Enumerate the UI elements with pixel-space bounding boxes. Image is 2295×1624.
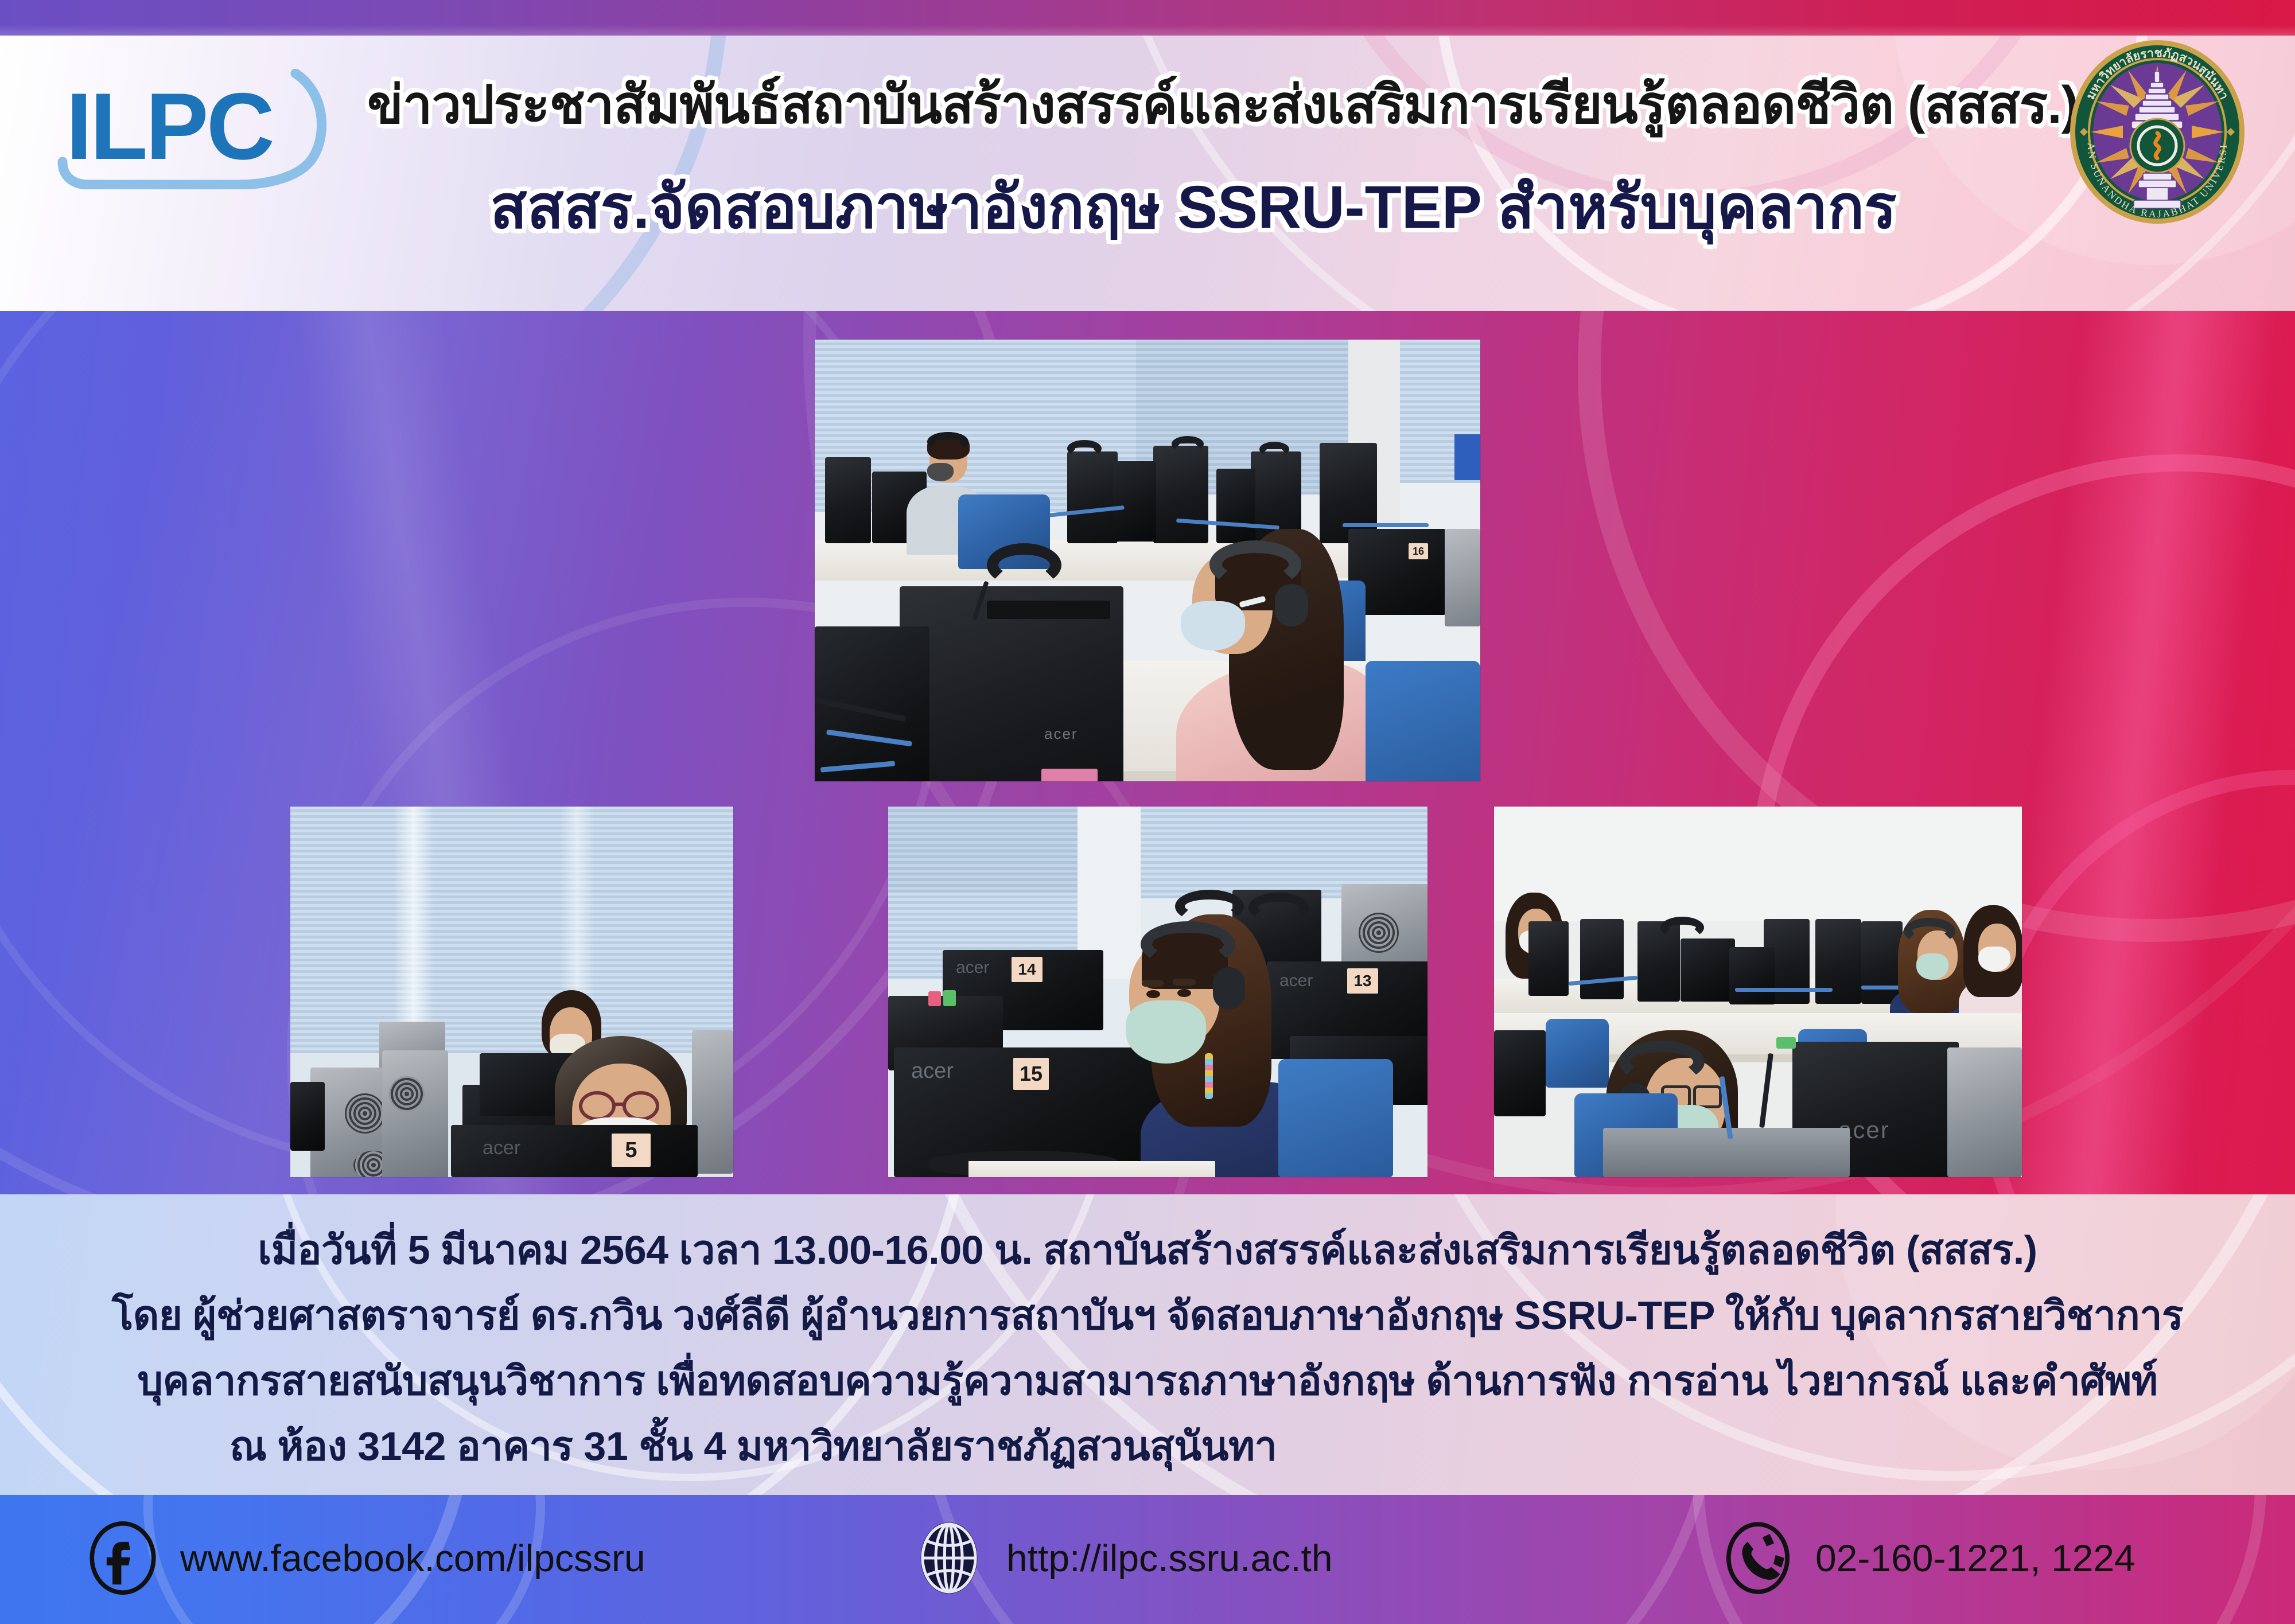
seat-number-tag: 15: [1013, 1058, 1049, 1090]
facebook-icon: [86, 1521, 160, 1595]
seat-number-tag: 13: [1347, 968, 1378, 994]
description-line-4: ณ ห้อง 3142 อาคาร 31 ชั้น 4 มหาวิทยาลัยร…: [0, 1413, 2295, 1479]
gallery-photo-main[interactable]: 16 acer: [815, 340, 1480, 781]
description-line-1: เมื่อวันที่ 5 มีนาคม 2564 เวลา 13.00-16.…: [0, 1217, 2295, 1283]
gallery-photo-middle[interactable]: acer 14 acer 13 acer 15: [888, 807, 1427, 1177]
ilpc-swoosh-icon: [55, 69, 376, 189]
ilpc-logo: ILPC: [55, 69, 376, 189]
top-band-gloss: [0, 0, 2295, 36]
gallery-photo-right[interactable]: acer: [1494, 807, 2022, 1177]
globe-icon: [912, 1521, 986, 1595]
header-title-block: ข่าวประชาสัมพันธ์สถาบันสร้างสรรค์และส่งเ…: [367, 62, 2020, 255]
footer-website-item[interactable]: http://ilpc.ssru.ac.th: [912, 1521, 1333, 1595]
gallery-photo-left[interactable]: acer acer acer 5: [290, 807, 733, 1177]
footer-facebook-item[interactable]: www.facebook.com/ilpcssru: [86, 1521, 645, 1595]
website-url-label: http://ilpc.ssru.ac.th: [1006, 1536, 1333, 1580]
header-subtitle: ข่าวประชาสัมพันธ์สถาบันสร้างสรรค์และส่งเ…: [367, 62, 2020, 146]
university-seal-logo: มหาวิทยาลัยราชภัฏสวนสุนันทา SUAN SUNANDH…: [2063, 36, 2252, 225]
page-title: สสสร.จัดสอบภาษาอังกฤษ SSRU-TEP สำหรับบุค…: [367, 159, 2020, 255]
phone-icon: [1721, 1521, 1795, 1595]
poster-canvas: ILPC ข่าวประชาสัมพันธ์สถาบันสร้างสรรค์แล…: [0, 0, 2295, 1624]
description-line-3: บุคลากรสายสนับสนุนวิชาการ เพื่อทดสอบความ…: [0, 1348, 2295, 1413]
description-line-2: โดย ผู้ช่วยศาสตราจารย์ ดร.กวิน วงศ์ลีดี …: [0, 1283, 2295, 1348]
gallery-arc-5: [1979, 770, 2295, 1194]
description-text: เมื่อวันที่ 5 มีนาคม 2564 เวลา 13.00-16.…: [0, 1217, 2295, 1479]
seat-number-tag: 5: [612, 1134, 651, 1167]
footer-phone-item[interactable]: 02-160-1221, 1224: [1721, 1521, 2135, 1595]
phone-number-label: 02-160-1221, 1224: [1815, 1536, 2135, 1580]
seat-number-tag: 14: [1012, 957, 1043, 982]
facebook-url-label: www.facebook.com/ilpcssru: [180, 1536, 645, 1580]
